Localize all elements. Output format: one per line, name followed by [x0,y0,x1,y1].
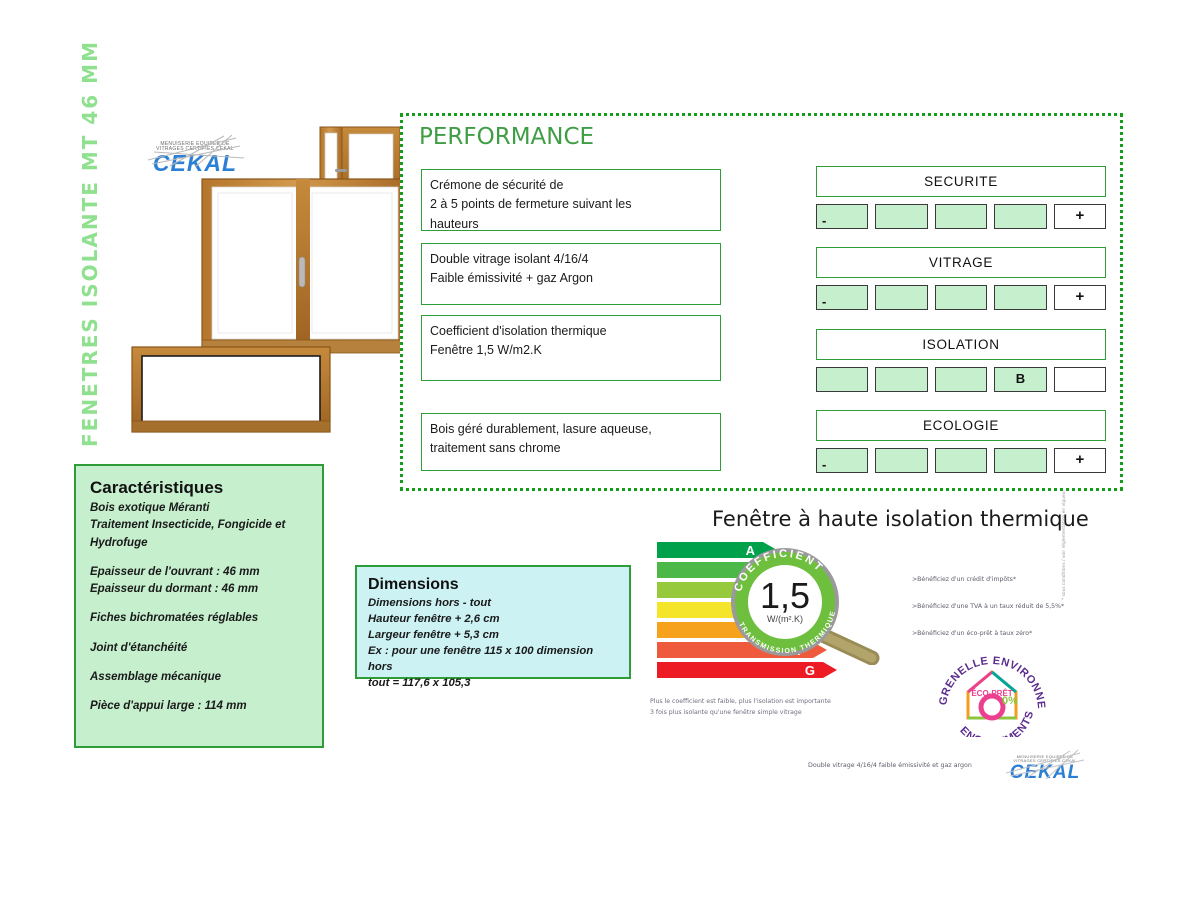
feature-line: Fenêtre 1,5 W/m2.K [430,341,712,360]
scale-cell[interactable]: - [816,204,868,229]
performance-feature-box: Coefficient d'isolation thermique Fenêtr… [421,315,721,381]
carac-line: Fiches bichromatées réglables [90,610,308,627]
scale-cell[interactable] [875,204,927,229]
rating-scale: - + [816,285,1106,310]
scale-cell[interactable] [994,204,1046,229]
performance-feature-box: Double vitrage isolant 4/16/4 Faible émi… [421,243,721,305]
dimension-line: Ex : pour une fenêtre 115 x 100 dimensio… [368,643,618,675]
rating-scale: B [816,367,1106,392]
scale-cell[interactable] [875,448,927,473]
feature-line: Faible émissivité + gaz Argon [430,269,712,288]
feature-line: traitement sans chrome [430,439,712,458]
coefficient-unit: W/(m².K) [767,614,803,624]
feature-line: Double vitrage isolant 4/16/4 [430,250,712,269]
scale-cell[interactable] [875,367,927,392]
rating-label: ECOLOGIE [816,410,1106,441]
window-illustration [130,125,405,445]
feature-line: 2 à 5 points de fermeture suivant les [430,195,712,214]
minus-icon: - [822,458,826,471]
minus-icon: - [822,295,826,308]
carac-line: Assemblage mécanique [90,669,308,686]
feature-line: Bois géré durablement, lasure aqueuse, [430,420,712,439]
scale-cell[interactable]: + [1054,285,1106,310]
scale-cell[interactable] [935,204,987,229]
performance-feature-box: Crémone de sécurité de 2 à 5 points de f… [421,169,721,231]
page-side-title: FENETRES ISOLANTE MT 46 MM [78,87,102,447]
cekal-logo-bottom: MENUISERIE EQUIPEE DE VITRAGES CERTIFIES… [1000,755,1090,782]
scale-cell[interactable] [1054,367,1106,392]
carac-line: Hydrofuge [90,535,308,552]
plus-icon: + [1075,451,1084,468]
dimensions-box: Dimensions Dimensions hors - tout Hauteu… [355,565,631,679]
rating-row-securite: SECURITE - + [816,166,1106,229]
energy-letter-g: G [805,663,815,678]
dimension-line: Largeur fenêtre + 5,3 cm [368,627,618,643]
feature-line: Crémone de sécurité de [430,176,712,195]
scale-cell[interactable] [935,448,987,473]
spacer [90,628,308,640]
minus-icon: - [822,214,826,227]
scale-cell[interactable] [935,367,987,392]
rating-label: VITRAGE [816,247,1106,278]
benefit-line: >Bénéficiez d'un éco-prêt à taux zéro* [912,630,1032,637]
carac-line: Joint d'étanchéité [90,640,308,657]
scale-cell[interactable]: + [1054,204,1106,229]
plus-icon: + [1075,207,1084,224]
scale-cell[interactable]: + [1054,448,1106,473]
scale-cell[interactable]: - [816,285,868,310]
scale-cell[interactable] [994,285,1046,310]
dimension-line: Hauteur fenêtre + 2,6 cm [368,611,618,627]
product-photos [130,125,405,445]
benefit-line: >Bénéficiez d'une TVA à un taux réduit d… [912,603,1064,610]
performance-feature-box: Bois géré durablement, lasure aqueuse, t… [421,413,721,471]
datasheet-page: FENETRES ISOLANTE MT 46 MM MENUISERIE EQ… [0,0,1202,901]
carac-line: Epaisseur de l'ouvrant : 46 mm [90,564,308,581]
spacer [90,657,308,669]
carac-line: Pièce d'appui large : 114 mm [90,698,308,715]
carac-line: Epaisseur du dormant : 46 mm [90,581,308,598]
caracteristiques-title: Caractéristiques [90,478,308,498]
scale-cell[interactable] [816,367,868,392]
performance-title: PERFORMANCE [419,124,594,150]
dimension-line: tout = 117,6 x 105,3 [368,675,618,691]
scale-cell[interactable] [994,448,1046,473]
cekal-rays-icon [1000,747,1090,781]
legal-note: * sous conditions / voir réglementation … [1062,490,1067,600]
feature-line: hauteurs [430,215,712,234]
scale-cell[interactable] [935,285,987,310]
carac-line: Bois exotique Méranti [90,500,308,517]
rating-scale: - + [816,204,1106,229]
performance-panel: PERFORMANCE Crémone de sécurité de 2 à 5… [400,113,1123,491]
rating-row-vitrage: VITRAGE - + [816,247,1106,310]
energy-caption: Plus le coefficient est faible, plus l'i… [650,697,900,719]
energy-caption-line-2: 3 fois plus isolante qu'une fenêtre simp… [650,708,900,719]
scale-cell-grade[interactable]: B [994,367,1046,392]
rating-row-isolation: ISOLATION B [816,329,1106,392]
energy-caption-line-1: Plus le coefficient est faible, plus l'i… [650,697,900,708]
spacer [90,598,308,610]
scale-cell[interactable]: - [816,448,868,473]
dimension-line: Dimensions hors - tout [368,595,618,611]
spacer [90,686,308,698]
scale-cell[interactable] [875,285,927,310]
spacer [90,552,308,564]
grenelle-top-words: GRENELLE ENVIRONNEMENT [938,652,1046,710]
feature-line: Coefficient d'isolation thermique [430,322,712,341]
ecopret-value: 0% [1002,695,1018,707]
rating-row-ecologie: ECOLOGIE - + [816,410,1106,473]
grenelle-environnement-logo: ÉCO-PRÊT 0% GRENELLE ENVIRONNEMENT ENGAG… [938,652,1046,737]
coefficient-magnifier: COEFFICIENT TRANSMISSION THERMIQUE 1,5 W… [720,540,895,665]
carac-line: Traitement Insecticide, Fongicide et [90,517,308,534]
benefit-line: >Bénéficiez d'un crédit d'impôts* [912,576,1016,583]
bottom-note: Double vitrage 4/16/4 faible émissivité … [808,762,972,769]
rating-label: ISOLATION [816,329,1106,360]
dimensions-title: Dimensions [368,576,618,594]
thermal-title: Fenêtre à haute isolation thermique [712,507,1089,531]
caracteristiques-box: Caractéristiques Bois exotique Méranti T… [74,464,324,748]
plus-icon: + [1075,288,1084,305]
rating-label: SECURITE [816,166,1106,197]
rating-scale: - + [816,448,1106,473]
coefficient-value: 1,5 [760,575,810,616]
